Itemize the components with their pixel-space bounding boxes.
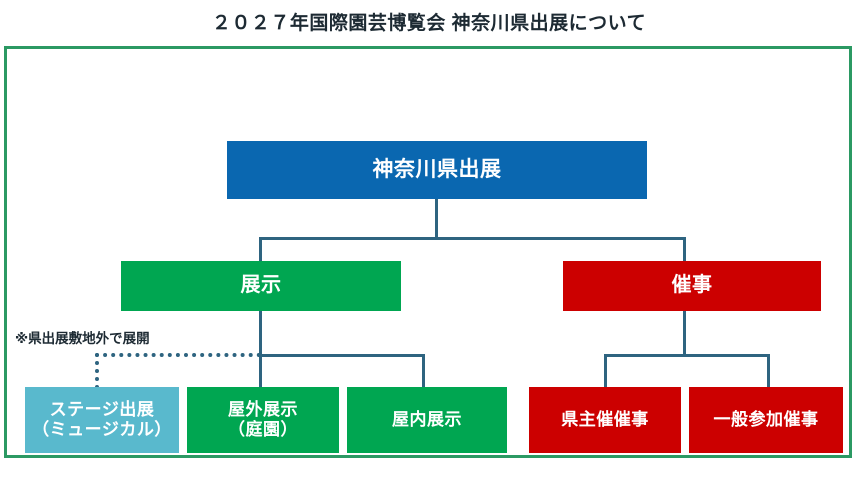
connector-events-drop <box>683 311 686 357</box>
connector-dotted-vertical <box>95 353 99 389</box>
connector-events-bus <box>604 354 770 357</box>
connector-root-drop <box>435 199 438 239</box>
connector-dotted-horizontal <box>95 353 261 357</box>
node-events: 催事 <box>563 261 821 311</box>
node-exhibition: 展示 <box>121 261 401 311</box>
node-outdoor-exhibit-garden: 屋外展示 （庭園） <box>187 387 339 453</box>
node-stage-musical: ステージ出展 （ミュージカル） <box>25 387 179 453</box>
node-indoor-exhibit: 屋内展示 <box>347 387 507 453</box>
connector-events-to-public-events <box>767 354 770 389</box>
diagram-frame: ※県出展敷地外で展開 神奈川県出展 展示 催事 ステージ出展 （ミュージカル） … <box>4 46 852 458</box>
connector-exhibition-to-indoor <box>422 354 425 389</box>
node-kanagawa-exhibit: 神奈川県出展 <box>227 141 647 199</box>
connector-root-to-events <box>683 237 686 263</box>
node-prefecture-hosted-events: 県主催催事 <box>529 387 681 453</box>
offsite-note: ※県出展敷地外で展開 <box>15 327 150 347</box>
connector-root-to-exhibition <box>259 237 262 263</box>
connector-root-bus <box>259 237 686 240</box>
connector-exhibition-drop <box>259 311 262 357</box>
connector-exhibition-to-outdoor <box>259 354 262 389</box>
node-public-participation-events: 一般参加催事 <box>689 387 843 453</box>
page-title: ２０２７年国際園芸博覧会 神奈川県出展について <box>0 8 858 35</box>
connector-events-to-pref-events <box>604 354 607 389</box>
connector-exhibition-bus <box>259 354 425 357</box>
